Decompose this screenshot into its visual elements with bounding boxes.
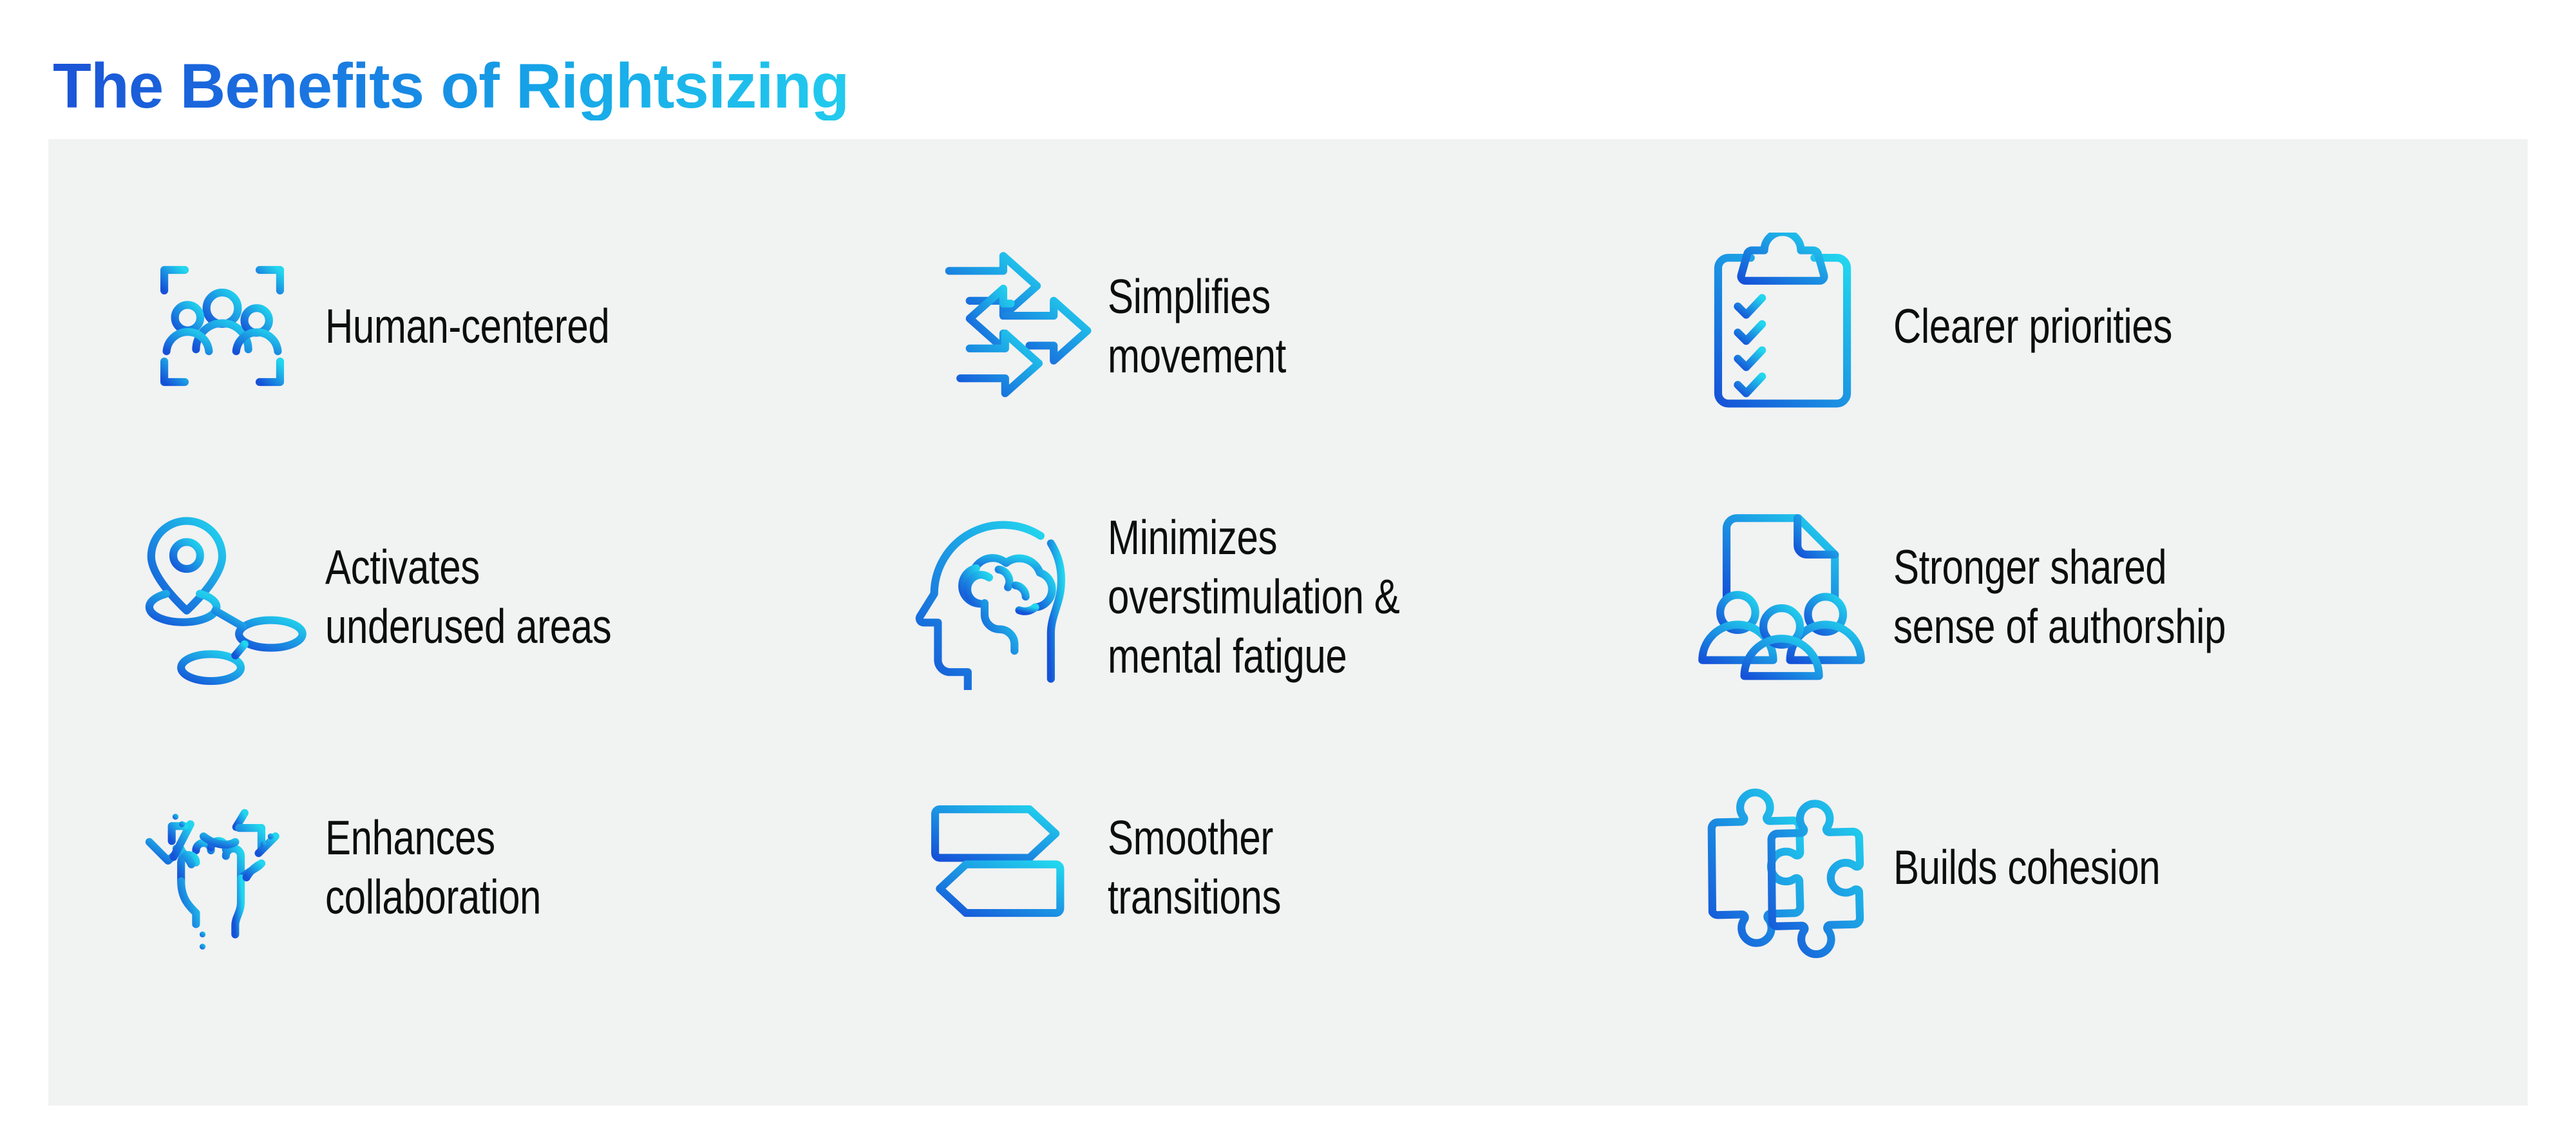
puzzle-pieces-icon xyxy=(1671,771,1893,964)
benefit-label: Stronger shared sense of authorship xyxy=(1893,537,2336,657)
signpost-icon xyxy=(895,771,1108,964)
page-title: The Benefits of Rightsizing xyxy=(53,52,849,121)
benefit-label: Enhances collaboration xyxy=(325,808,781,927)
benefit-item-clearer-priorities: Clearer priorities xyxy=(1671,191,2447,461)
infographic-page: The Benefits of Rightsizing xyxy=(0,0,2576,1141)
benefit-item-stronger-shared-authorship: Stronger shared sense of authorship xyxy=(1671,461,2447,732)
benefit-label: Activates underused areas xyxy=(325,537,781,657)
benefit-item-minimizes-overstimulation: Minimizes overstimulation & mental fatig… xyxy=(895,461,1671,732)
benefit-label: Builds cohesion xyxy=(1893,838,2336,897)
fast-arrows-icon xyxy=(895,229,1108,423)
benefit-label: Clearer priorities xyxy=(1893,296,2336,356)
benefit-item-builds-cohesion: Builds cohesion xyxy=(1671,732,2447,1002)
benefit-item-smoother-transitions: Smoother transitions xyxy=(895,732,1671,1002)
benefit-label: Human-centered xyxy=(325,296,781,356)
benefit-item-activates-underused-areas: Activates underused areas xyxy=(119,461,895,732)
benefit-label: Simplifies movement xyxy=(1108,267,1558,386)
benefit-item-enhances-collaboration: Enhances collaboration xyxy=(119,732,895,1002)
benefits-grid: Human-centered xyxy=(119,191,2463,1002)
map-pin-route-icon xyxy=(119,500,325,693)
people-in-frame-icon xyxy=(119,229,325,423)
benefit-label: Smoother transitions xyxy=(1108,808,1558,927)
document-people-icon xyxy=(1671,500,1893,693)
hands-together-icon xyxy=(119,771,325,964)
benefit-label: Minimizes overstimulation & mental fatig… xyxy=(1108,508,1558,686)
benefits-panel: Human-centered xyxy=(48,139,2528,1106)
clipboard-checklist-icon xyxy=(1671,229,1893,423)
head-brain-icon xyxy=(895,500,1108,693)
benefit-item-human-centered: Human-centered xyxy=(119,191,895,461)
benefit-item-simplifies-movement: Simplifies movement xyxy=(895,191,1671,461)
